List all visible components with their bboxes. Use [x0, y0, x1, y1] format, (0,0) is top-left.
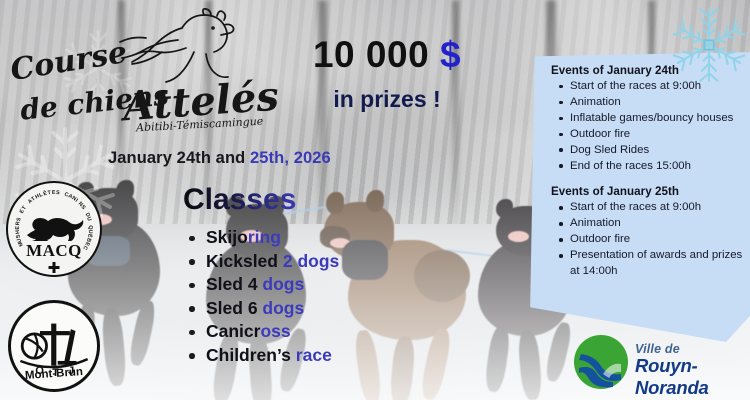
events-day2-list: Start of the races at 9:00hAnimationOutd…: [557, 200, 750, 279]
class-item-label-b: ring: [248, 227, 281, 247]
rouyn-noranda-logo: Ville de Rouyn-Noranda: [573, 334, 749, 394]
events-panel: Events of January 24th Start of the race…: [529, 52, 750, 342]
running-dog-silhouette-icon: [24, 215, 88, 241]
events-day1-list: Start of the races at 9:00hAnimationInfl…: [557, 79, 750, 174]
macq-ring-char: E: [15, 226, 21, 230]
class-item-label-a: Canicr: [206, 321, 260, 341]
event-item: Presentation of awards and prizes at 14:…: [557, 248, 750, 279]
event-logo: Course de chiens Attelés Abitibi-Témisca…: [8, 8, 243, 138]
event-dates: January 24th and 25th, 2026: [108, 149, 331, 168]
rouyn-noranda-line2: Rouyn-Noranda: [635, 355, 749, 399]
classes-list: SkijoringKicksled 2 dogsSled 4 dogsSled …: [185, 226, 339, 367]
macq-ring-char: [60, 191, 63, 197]
class-item-label-b: race: [296, 345, 332, 365]
class-item-label-b: 2 dogs: [283, 251, 339, 271]
event-item: End of the races 15:00h: [557, 159, 750, 174]
event-item: Animation: [557, 95, 750, 110]
class-item-label-a: Sled 4: [206, 274, 262, 294]
event-item: Inflatable games/bouncy houses: [557, 111, 750, 126]
panel-spacer: [551, 174, 750, 185]
class-item: Sled 4 dogs: [185, 273, 339, 297]
class-item: Children’s race: [185, 344, 339, 368]
event-item: Outdoor fire: [557, 127, 750, 142]
macq-ring-char: H: [15, 230, 21, 235]
rouyn-noranda-wordmark: Ville de Rouyn-Noranda: [635, 342, 749, 399]
macq-ring-char: R: [15, 221, 21, 225]
event-item: Outdoor fire: [557, 232, 750, 247]
class-item: Sled 6 dogs: [185, 297, 339, 321]
macq-logo: MUSHERS ET ATHLÈTES CANINS DU QUÉBEC MAC…: [6, 181, 102, 277]
rouyn-noranda-line1: Ville de: [635, 342, 749, 356]
macq-wordmark: MACQ: [8, 241, 100, 261]
class-item: Skijoring: [185, 226, 339, 250]
class-item-label-b: dogs: [262, 298, 304, 318]
event-item: Start of the races at 9:00h: [557, 200, 750, 215]
class-item-label-a: Children’s: [206, 345, 296, 365]
event-dates-part2: 25th, 2026: [250, 149, 331, 167]
prize-value: 10 000: [313, 34, 429, 75]
prize-amount: 10 000 $: [272, 36, 502, 74]
currency-symbol: $: [440, 34, 461, 75]
class-item: Kicksled 2 dogs: [185, 250, 339, 274]
class-item-label-a: Sled 6: [206, 298, 262, 318]
events-day2-title: Events of January 25th: [551, 185, 750, 198]
poster-canvas: Course de chiens Attelés Abitibi-Témisca…: [0, 0, 750, 400]
otj-mont-brun-logo: O T J Mont-Brun: [8, 300, 100, 392]
event-item: Dog Sled Rides: [557, 143, 750, 158]
event-dates-part1: January 24th and: [108, 149, 250, 167]
prize-subtitle: in prizes !: [272, 86, 502, 113]
class-item: Canicross: [185, 320, 339, 344]
snowflake-icon: [670, 6, 748, 84]
cross-icon: [47, 262, 62, 276]
class-item-label-a: Kicksled: [206, 251, 283, 271]
event-item: Animation: [557, 216, 750, 231]
class-item-label-b: dogs: [262, 274, 304, 294]
class-item-label-a: Skijo: [206, 227, 248, 247]
green-circle-wave-mark-icon: [573, 334, 629, 390]
classes-heading: Classes: [183, 183, 296, 217]
class-item-label-b: oss: [260, 321, 290, 341]
